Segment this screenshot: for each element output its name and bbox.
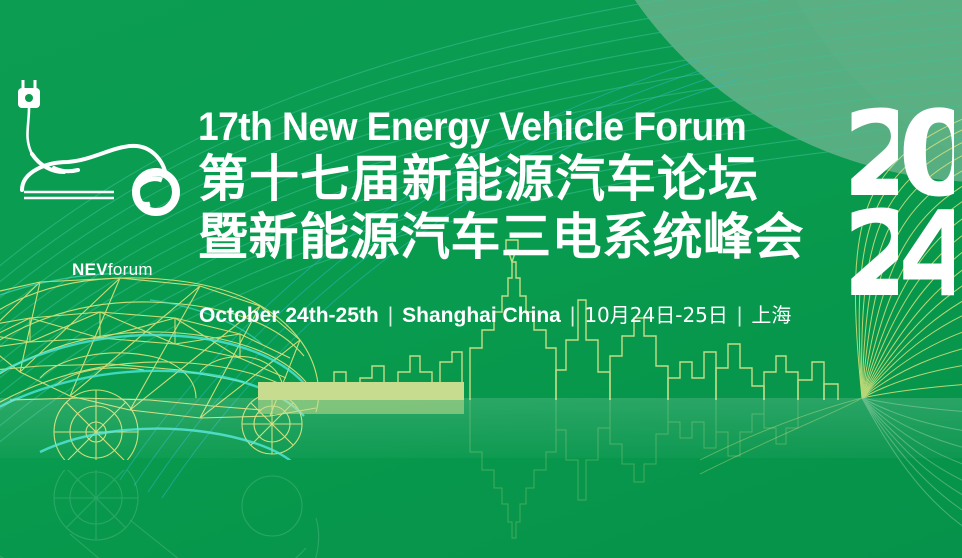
wheel-swirl-icon <box>136 172 176 212</box>
year-digit-3: 2 <box>842 204 898 304</box>
logo-underline <box>24 192 114 198</box>
headline-chinese-line2: 暨新能源汽车三电系统峰会 <box>198 208 838 266</box>
year-block: 2 0 2 4 <box>842 104 954 304</box>
accent-bar <box>258 382 464 400</box>
plug-icon <box>18 80 40 154</box>
nevforum-logo[interactable]: NEVforum <box>6 76 192 216</box>
location-chinese: 上海 <box>751 303 791 327</box>
date-english: October 24th-25th <box>199 304 379 327</box>
year-digit-4: 4 <box>898 204 954 304</box>
accent-bar-reflection <box>258 400 464 414</box>
separator-2: | <box>561 304 584 327</box>
logo-name-light: forum <box>108 260 153 279</box>
headline-english: 17th New Energy Vehicle Forum <box>198 104 793 150</box>
location-english: Shanghai China <box>402 304 561 327</box>
event-poster: NEVforum 17th New Energy Vehicle Forum 第… <box>0 0 962 558</box>
logo-name-bold: NEV <box>72 260 108 279</box>
year-digit-2: 0 <box>898 104 954 204</box>
logo-wordmark: NEVforum <box>72 260 153 280</box>
water-reflection-band <box>0 398 962 458</box>
year-digit-1: 2 <box>842 104 898 204</box>
date-chinese: 10月24日-25日 <box>584 303 728 327</box>
separator-3: | <box>728 304 751 327</box>
event-details-line: October 24th-25th|Shanghai China|10月24日-… <box>199 299 791 328</box>
headline-chinese-line1: 第十七届新能源汽车论坛 <box>198 150 838 208</box>
headline-block: 17th New Energy Vehicle Forum 第十七届新能源汽车论… <box>198 104 838 266</box>
separator-1: | <box>379 304 402 327</box>
